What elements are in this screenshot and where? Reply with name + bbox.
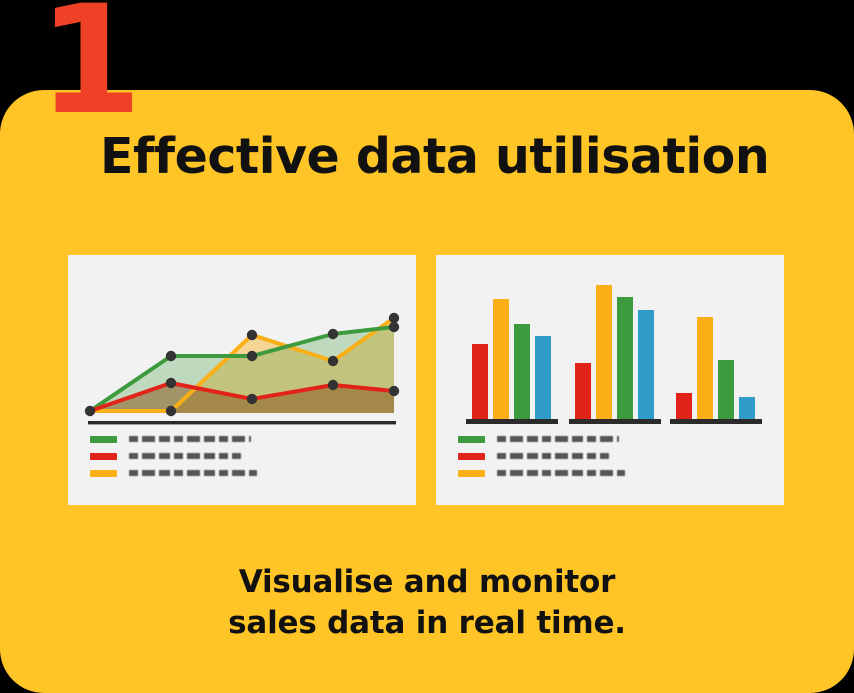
data-point bbox=[85, 406, 95, 416]
data-point bbox=[389, 313, 399, 323]
group-axis-line bbox=[670, 419, 762, 424]
bar-red bbox=[676, 393, 692, 421]
data-point bbox=[247, 351, 257, 361]
area-chart-plot-area bbox=[85, 313, 399, 425]
data-point bbox=[328, 329, 338, 339]
legend-swatch-green bbox=[458, 436, 485, 443]
data-point bbox=[389, 386, 399, 396]
page-title: Effective data utilisation bbox=[100, 132, 769, 181]
legend-swatch-orange bbox=[458, 470, 485, 477]
slide-canvas: 1 Effective data utilisation bbox=[0, 0, 854, 693]
legend-label bbox=[497, 453, 609, 459]
bar-orange bbox=[596, 285, 612, 421]
caption-line-2: sales data in real time. bbox=[0, 603, 854, 644]
area-chart-legend bbox=[90, 435, 257, 477]
data-point bbox=[247, 394, 257, 404]
area-chart-panel bbox=[68, 255, 416, 505]
legend-swatch-orange bbox=[90, 470, 117, 477]
feature-card: Effective data utilisation bbox=[0, 90, 854, 693]
data-point bbox=[328, 380, 338, 390]
legend-swatch-red bbox=[90, 453, 117, 460]
caption-line-1: Visualise and monitor bbox=[0, 562, 854, 603]
data-point bbox=[328, 356, 338, 366]
bar-chart-panel bbox=[436, 255, 784, 505]
x-axis-line bbox=[88, 421, 396, 424]
bar-orange bbox=[493, 299, 509, 421]
legend-item bbox=[90, 469, 257, 477]
bar-group-1 bbox=[466, 299, 558, 424]
bar-green bbox=[514, 324, 530, 421]
group-axis-line bbox=[466, 419, 558, 424]
legend-swatch-red bbox=[458, 453, 485, 460]
legend-label bbox=[129, 470, 257, 476]
bar-blue bbox=[739, 397, 755, 421]
bar-blue bbox=[638, 310, 654, 421]
data-point bbox=[166, 378, 176, 388]
legend-label bbox=[497, 470, 625, 476]
data-point bbox=[166, 351, 176, 361]
bar-group-3 bbox=[670, 317, 762, 424]
step-number: 1 bbox=[38, 0, 138, 136]
bar-chart-legend bbox=[458, 435, 625, 477]
data-point bbox=[247, 330, 257, 340]
legend-item bbox=[458, 435, 625, 443]
data-point bbox=[389, 322, 399, 332]
legend-label bbox=[497, 436, 619, 442]
legend-item bbox=[458, 452, 625, 460]
bar-green bbox=[617, 297, 633, 421]
bar-blue bbox=[535, 336, 551, 421]
legend-item bbox=[90, 435, 257, 443]
data-point bbox=[166, 406, 176, 416]
legend-swatch-green bbox=[90, 436, 117, 443]
bar-red bbox=[575, 363, 591, 421]
bar-group-2 bbox=[569, 285, 661, 424]
group-axis-line bbox=[569, 419, 661, 424]
bar-green bbox=[718, 360, 734, 421]
card-caption: Visualise and monitor sales data in real… bbox=[0, 562, 854, 644]
legend-item bbox=[458, 469, 625, 477]
legend-item bbox=[90, 452, 257, 460]
legend-label bbox=[129, 453, 241, 459]
bar-chart-plot-area bbox=[466, 285, 762, 424]
bar-orange bbox=[697, 317, 713, 421]
legend-label bbox=[129, 436, 251, 442]
bar-red bbox=[472, 344, 488, 421]
